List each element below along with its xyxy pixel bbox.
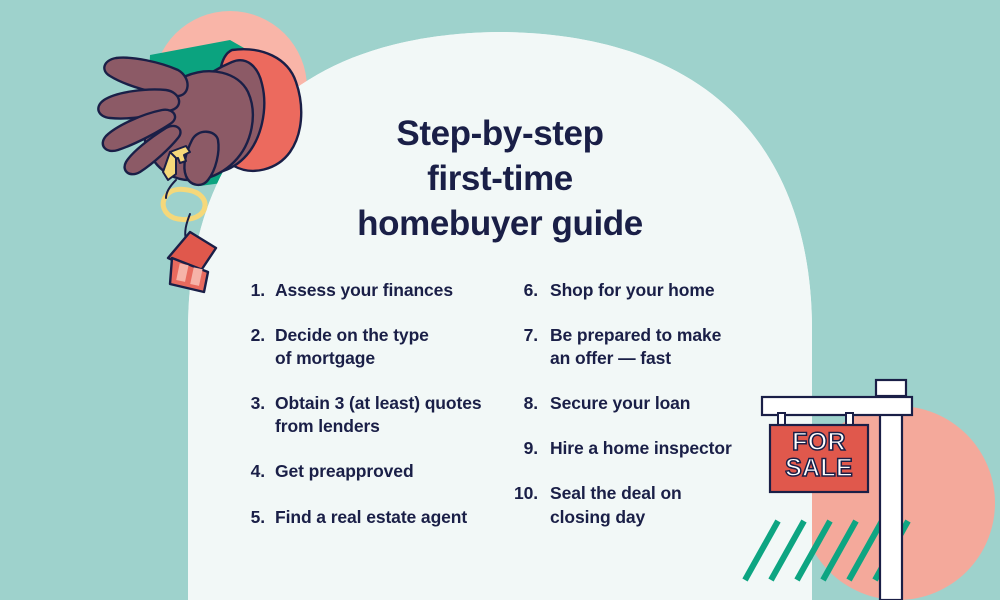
list-item-number: 2. xyxy=(243,324,265,347)
list-item-line: Assess your finances xyxy=(275,279,508,302)
list-item-number: 6. xyxy=(512,279,538,302)
list-item-number: 4. xyxy=(243,460,265,483)
list-item: 8. Secure your loan xyxy=(512,392,777,415)
list-item-text: Shop for your home xyxy=(550,279,777,302)
infographic-canvas: Step-by-step first-time homebuyer guide … xyxy=(0,0,1000,600)
page-title: Step-by-step first-time homebuyer guide xyxy=(240,112,760,246)
list-item-line: Secure your loan xyxy=(550,392,777,415)
list-item-line: Obtain 3 (at least) quotes xyxy=(275,392,508,415)
list-item-line: Hire a home inspector xyxy=(550,437,777,460)
list-item-text: Assess your finances xyxy=(275,279,508,302)
list-item: 5. Find a real estate agent xyxy=(243,506,508,529)
list-item-line: Decide on the type xyxy=(275,324,508,347)
list-item: 2. Decide on the type of mortgage xyxy=(243,324,508,370)
list-item-text: Be prepared to make an offer — fast xyxy=(550,324,777,370)
list-item: 10. Seal the deal on closing day xyxy=(512,482,777,528)
list-item-text: Get preapproved xyxy=(275,460,508,483)
for-sale-line-2: SALE xyxy=(770,455,868,481)
list-item-line: Find a real estate agent xyxy=(275,506,508,529)
list-item-text: Find a real estate agent xyxy=(275,506,508,529)
title-line-2: first-time xyxy=(240,157,760,202)
list-item-line: of mortgage xyxy=(275,347,508,370)
list-item-text: Decide on the type of mortgage xyxy=(275,324,508,370)
title-line-3: homebuyer guide xyxy=(240,202,760,247)
list-item: 9. Hire a home inspector xyxy=(512,437,777,460)
list-item-line: closing day xyxy=(550,506,777,529)
list-item-number: 10. xyxy=(512,482,538,505)
list-item-line: from lenders xyxy=(275,415,508,438)
for-sale-line-1: FOR xyxy=(770,429,868,455)
list-item-number: 3. xyxy=(243,392,265,415)
for-sale-sign-text: FOR SALE xyxy=(770,429,868,482)
list-item-number: 5. xyxy=(243,506,265,529)
list-item: 6. Shop for your home xyxy=(512,279,777,302)
list-item-text: Secure your loan xyxy=(550,392,777,415)
steps-column-right: 6. Shop for your home 7. Be prepared to … xyxy=(512,279,777,551)
list-item-number: 8. xyxy=(512,392,538,415)
list-item: 1. Assess your finances xyxy=(243,279,508,302)
list-item-line: Seal the deal on xyxy=(550,482,777,505)
list-item-line: Shop for your home xyxy=(550,279,777,302)
list-item-text: Seal the deal on closing day xyxy=(550,482,777,528)
list-item-number: 9. xyxy=(512,437,538,460)
title-line-1: Step-by-step xyxy=(240,112,760,157)
list-item: 4. Get preapproved xyxy=(243,460,508,483)
list-item: 7. Be prepared to make an offer — fast xyxy=(512,324,777,370)
list-item-line: Be prepared to make xyxy=(550,324,777,347)
list-item-text: Obtain 3 (at least) quotes from lenders xyxy=(275,392,508,438)
steps-column-left: 1. Assess your finances 2. Decide on the… xyxy=(243,279,508,551)
list-item-number: 1. xyxy=(243,279,265,302)
list-item-line: Get preapproved xyxy=(275,460,508,483)
list-item: 3. Obtain 3 (at least) quotes from lende… xyxy=(243,392,508,438)
list-item-line: an offer — fast xyxy=(550,347,777,370)
list-item-number: 7. xyxy=(512,324,538,347)
list-item-text: Hire a home inspector xyxy=(550,437,777,460)
